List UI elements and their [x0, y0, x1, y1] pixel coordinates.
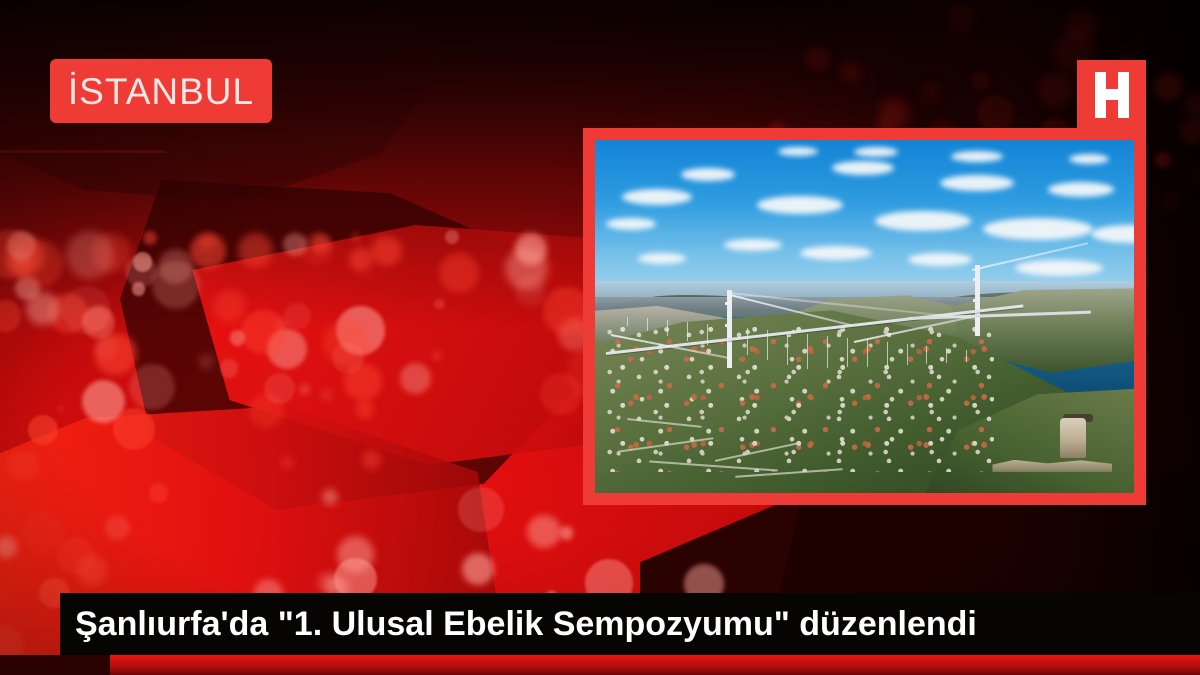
city-badge-label: İSTANBUL — [68, 73, 254, 110]
photo-image — [595, 140, 1134, 493]
cloud — [724, 239, 782, 251]
cloud — [638, 253, 686, 264]
bridge-hanger — [767, 330, 768, 360]
bridge-hanger — [707, 324, 708, 345]
haberler-h-logo[interactable] — [1077, 60, 1146, 129]
bridge-hanger — [907, 344, 908, 365]
cloud — [951, 151, 1003, 162]
bridge-hanger — [647, 318, 648, 331]
bridge-hanger — [827, 336, 828, 368]
h-letter-icon — [1092, 72, 1132, 118]
cloud — [875, 211, 971, 231]
caption-text: Şanlıurfa'da "1. Ulusal Ebelik Sempozyum… — [60, 607, 977, 641]
cloud — [908, 253, 972, 266]
bridge-hanger — [946, 348, 947, 364]
bridge-tower-crossbar — [725, 302, 732, 305]
bridge-hanger — [787, 332, 788, 364]
bridge-hanger — [627, 317, 628, 327]
bridge-hanger — [847, 338, 848, 368]
fortress-tower — [1060, 418, 1086, 458]
bottom-rule-dark-cap — [0, 655, 110, 675]
bridge-hanger — [687, 322, 688, 340]
city-badge: İSTANBUL — [50, 59, 272, 123]
bridge-hanger — [867, 340, 868, 367]
photo-card — [583, 128, 1146, 505]
news-banner-stage: İSTANBUL — [0, 0, 1200, 675]
bridge-hanger — [727, 326, 728, 350]
bridge-hanger — [926, 346, 927, 364]
bridge-hanger — [966, 350, 967, 363]
cloud — [983, 218, 1093, 240]
bridge-tower-crossbar — [973, 278, 979, 281]
cloud — [1015, 260, 1103, 276]
cloud — [606, 218, 656, 230]
cloud — [800, 246, 872, 260]
cloud — [854, 147, 898, 157]
bridge-hanger — [807, 334, 808, 369]
bridge-hanger — [887, 342, 888, 366]
bridge-hanger — [747, 328, 748, 355]
bridge-tower-crossbar — [973, 299, 979, 302]
bottom-red-rule — [0, 655, 1200, 675]
caption-bar: Şanlıurfa'da "1. Ulusal Ebelik Sempozyum… — [60, 593, 1200, 655]
bridge-tower-crossbar — [725, 324, 732, 327]
bridge-hanger — [667, 320, 668, 336]
